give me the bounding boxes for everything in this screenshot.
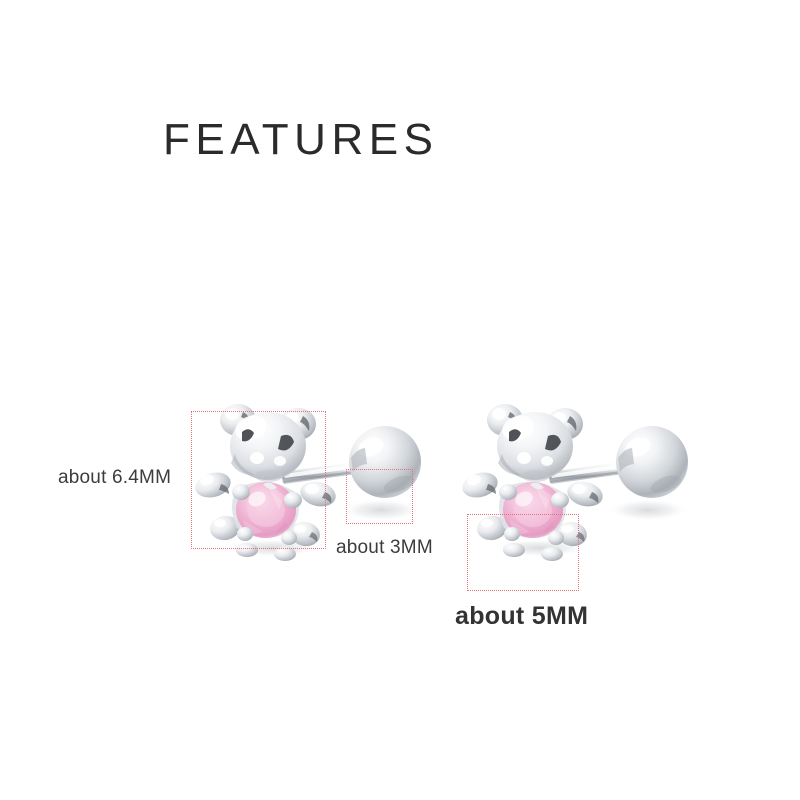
page-title: FEATURES	[163, 118, 438, 162]
bear-paw-upper-left	[192, 469, 233, 502]
dimension-label-height: about 6.4MM	[58, 468, 171, 487]
dimension-label-width: about 5MM	[455, 604, 588, 629]
shadow	[608, 499, 688, 521]
ball-back	[616, 426, 688, 498]
ball-back	[349, 426, 421, 498]
bear-paw-upper-right	[298, 478, 339, 510]
bear-charm	[192, 404, 338, 561]
earring-right-image	[452, 388, 712, 578]
product-feature-image: FEATURES	[0, 0, 800, 800]
bear-charm	[459, 404, 605, 561]
shadow	[341, 499, 421, 521]
bear-paw-upper-right	[565, 478, 606, 510]
bear-paw-upper-left	[459, 469, 500, 502]
dimension-label-ball-back: about 3MM	[336, 538, 433, 557]
